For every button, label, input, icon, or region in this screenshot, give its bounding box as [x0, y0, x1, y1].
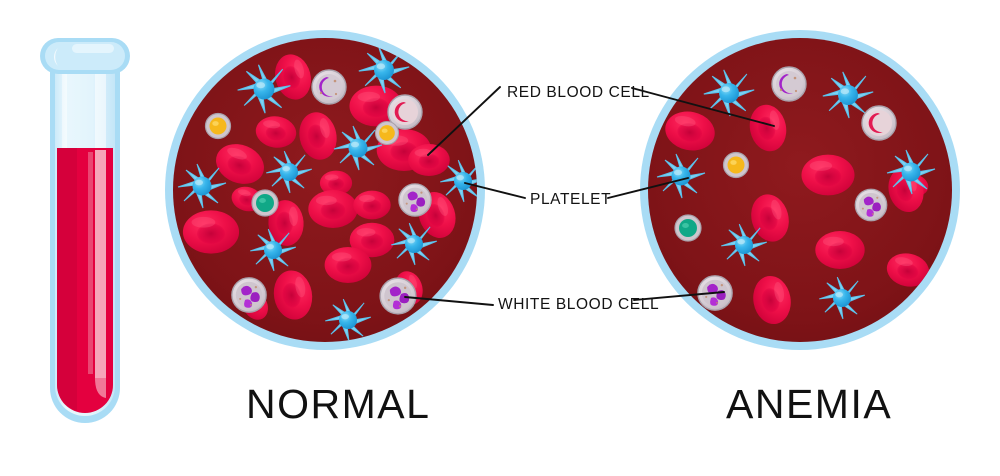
callout-label-platelet: PLATELET: [530, 191, 611, 209]
blood-sample-anemia-icon: [640, 30, 960, 406]
callout-label-white-blood-cell: WHITE BLOOD CELL: [498, 296, 659, 314]
blood-sample-normal-icon: [165, 30, 486, 350]
illustration-root: RED BLOOD CELL PLATELET WHITE BLOOD CELL…: [0, 0, 1000, 476]
test-tube-icon: [40, 38, 130, 423]
caption-normal: NORMAL: [246, 381, 430, 428]
callout-label-red-blood-cell: RED BLOOD CELL: [507, 84, 650, 102]
caption-anemia: ANEMIA: [726, 381, 892, 428]
